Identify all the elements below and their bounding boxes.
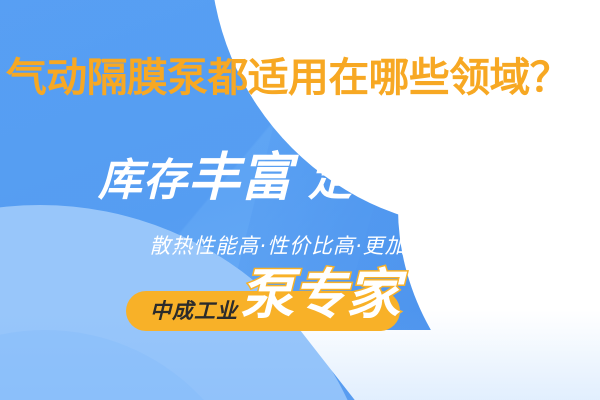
slogan-part-3: 定制 [308,155,398,206]
banner-headline: 气动隔膜泵都适用在哪些领域？ [6,58,600,98]
banner-slogan: 库存丰富定制快捷 [0,152,600,204]
brand-expert-label: 泵专家 [240,268,399,322]
slogan-part-1: 库存 [98,155,188,206]
brand-name-label: 中成工业 [150,300,238,322]
promo-banner: 气动隔膜泵都适用在哪些领域？ 库存丰富定制快捷 散热性能高·性价比高·更加耐用 … [0,0,600,400]
slogan-part-4: 快捷 [398,148,502,208]
banner-content: 气动隔膜泵都适用在哪些领域？ 库存丰富定制快捷 散热性能高·性价比高·更加耐用 … [0,0,600,400]
banner-subtitle: 散热性能高·性价比高·更加耐用 [0,236,600,257]
slogan-part-2: 丰富 [188,148,292,208]
